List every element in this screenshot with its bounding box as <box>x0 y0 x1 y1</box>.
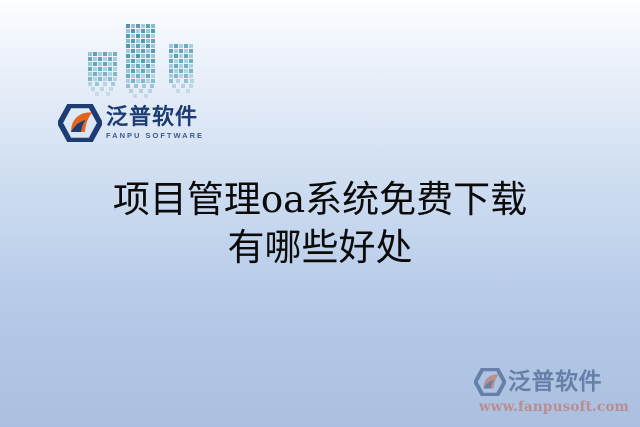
page-title: 项目管理oa系统免费下载 有哪些好处 <box>0 176 640 272</box>
watermark-logo: 泛普软件 <box>474 365 634 398</box>
pixel-skyline-icon <box>86 22 198 102</box>
fanpu-hexagon-swoosh-icon <box>58 104 102 142</box>
watermark: 泛普软件 www.fanpusoft.com <box>474 365 634 417</box>
promo-banner: 泛普软件 FANPU SOFTWARE 项目管理oa系统免费下载 有哪些好处 泛… <box>0 0 640 427</box>
fanpu-hexagon-swoosh-icon <box>474 368 506 396</box>
watermark-url: www.fanpusoft.com <box>474 399 634 415</box>
brand-name-en: FANPU SOFTWARE <box>106 130 204 141</box>
headline-line-2: 有哪些好处 <box>0 224 640 272</box>
watermark-name-cn: 泛普软件 <box>508 369 602 395</box>
brand-wordmark: 泛普软件 FANPU SOFTWARE <box>106 106 204 141</box>
brand-name-cn: 泛普软件 <box>106 106 204 130</box>
headline-line-1: 项目管理oa系统免费下载 <box>0 176 640 224</box>
brand-logo: 泛普软件 FANPU SOFTWARE <box>58 100 198 146</box>
